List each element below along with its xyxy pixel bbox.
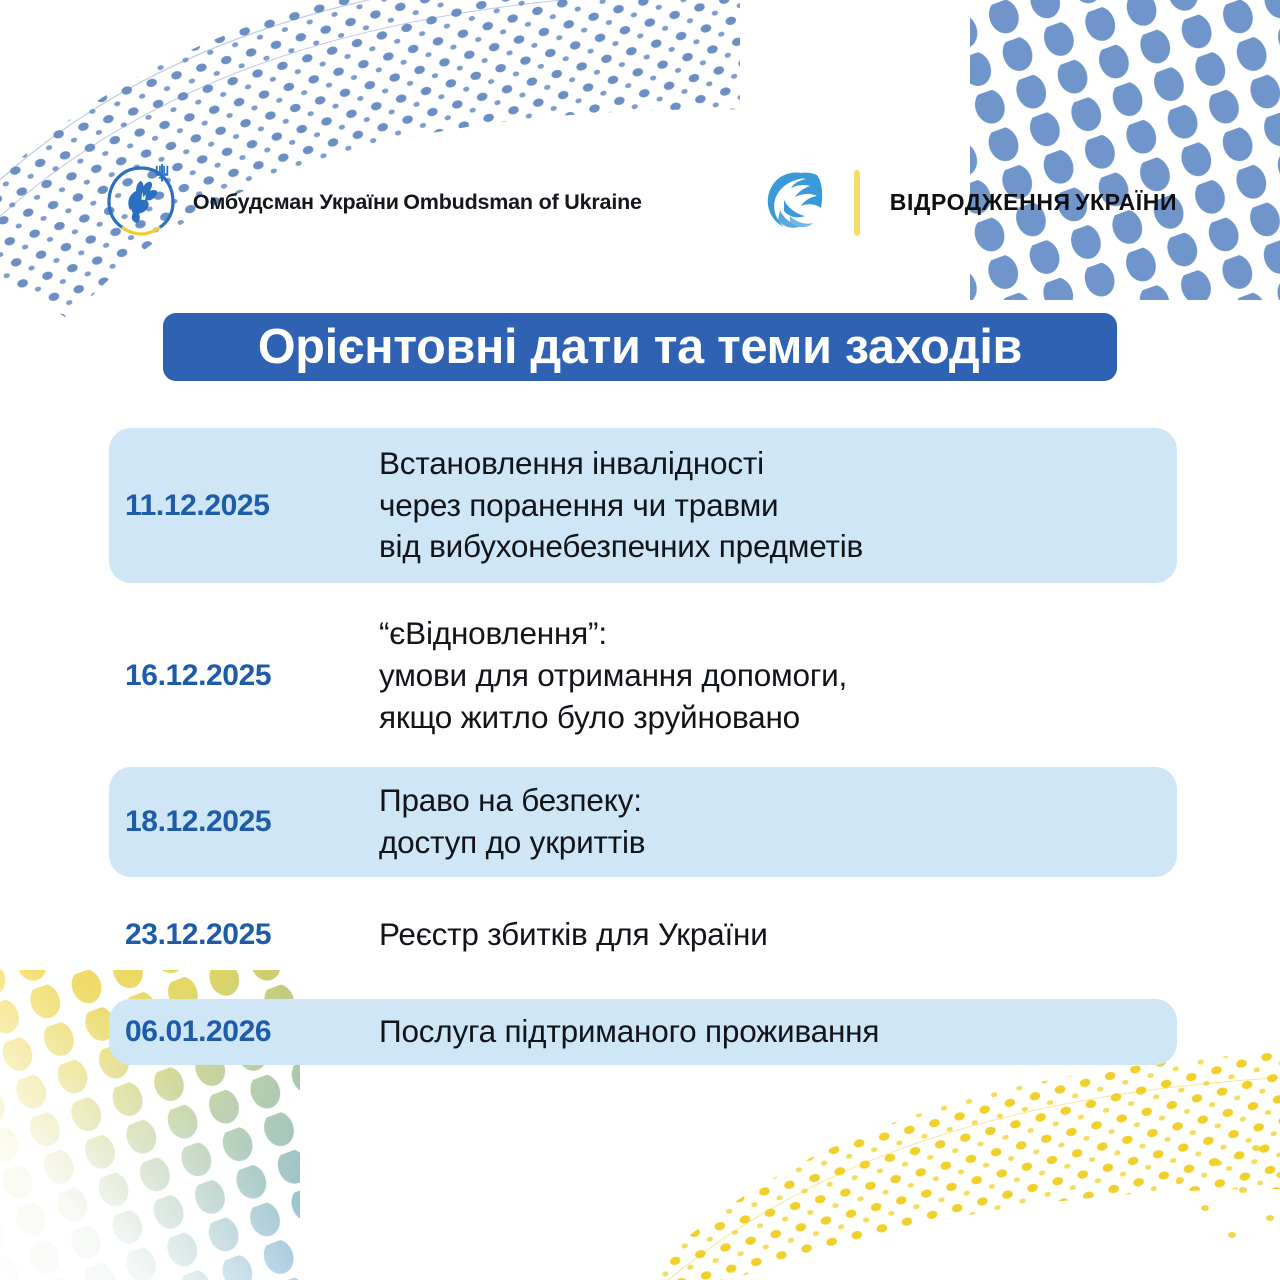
event-date: 18.12.2025 [109,805,379,839]
revival-divider [854,170,860,236]
ombudsman-emblem-icon [103,160,179,245]
event-date: 11.12.2025 [109,489,379,523]
table-row[interactable]: 18.12.2025 Право на безпеку: доступ до у… [109,767,1177,877]
revival-bird-icon [760,164,832,241]
event-topic-line: Право на безпеку: [379,780,1177,822]
table-row[interactable]: 11.12.2025 Встановлення інвалідності чер… [109,428,1177,583]
event-topic-line: доступ до укриттів [379,822,1177,864]
event-topic-line: якщо житло було зруйновано [379,697,1177,739]
table-row[interactable]: 06.01.2026 Послуга підтриманого проживан… [109,999,1177,1065]
ombudsman-logo: Омбудсман України Ombudsman of Ukraine [103,160,642,245]
page-title-banner: Орієнтовні дати та теми заходів [163,313,1117,381]
event-topic-line: умови для отримання допомоги, [379,655,1177,697]
table-row[interactable]: 16.12.2025 “єВідновлення”: умови для отр… [109,585,1177,767]
page-title: Орієнтовні дати та теми заходів [258,319,1022,375]
event-topic-line: Встановлення інвалідності [379,443,1177,485]
decor-top-right-dot-grid [970,0,1280,300]
event-topic: Послуга підтриманого проживання [379,1011,1177,1053]
event-topic-line: Реєстр збитків для України [379,914,1177,956]
event-topic-line: “єВідновлення”: [379,613,1177,655]
event-date: 06.01.2026 [109,1015,379,1049]
ombudsman-logo-text: Омбудсман України Ombudsman of Ukraine [193,190,642,215]
event-topic-line: через поранення чи травми [379,485,1177,527]
revival-logo-text: ВІДРОДЖЕННЯ УКРАЇНИ [890,189,1177,216]
poster-page: Омбудсман України Ombudsman of Ukraine В… [0,0,1280,1280]
revival-logo: ВІДРОДЖЕННЯ УКРАЇНИ [760,164,1177,241]
event-topic: “єВідновлення”: умови для отримання допо… [379,613,1177,739]
event-topic-line: Послуга підтриманого проживання [379,1011,1177,1053]
event-topic: Право на безпеку: доступ до укриттів [379,780,1177,864]
event-topic: Встановлення інвалідності через пораненн… [379,443,1177,569]
table-row[interactable]: 23.12.2025 Реєстр збитків для України [109,885,1177,985]
revival-line2: УКРАЇНИ [1075,189,1177,215]
ombudsman-name-en: Ombudsman of Ukraine [403,190,642,214]
event-date: 16.12.2025 [109,659,379,693]
logo-bar: Омбудсман України Ombudsman of Ukraine В… [0,160,1280,245]
ombudsman-name-uk: Омбудсман України [193,190,399,214]
decor-bottom-right-yellow-wave [660,1030,1280,1280]
event-topic-line: від вибухонебезпечних предметів [379,526,1177,568]
event-date: 23.12.2025 [109,918,379,952]
event-topic: Реєстр збитків для України [379,914,1177,956]
revival-line1: ВІДРОДЖЕННЯ [890,189,1071,215]
schedule-list: 11.12.2025 Встановлення інвалідності чер… [109,428,1177,1065]
